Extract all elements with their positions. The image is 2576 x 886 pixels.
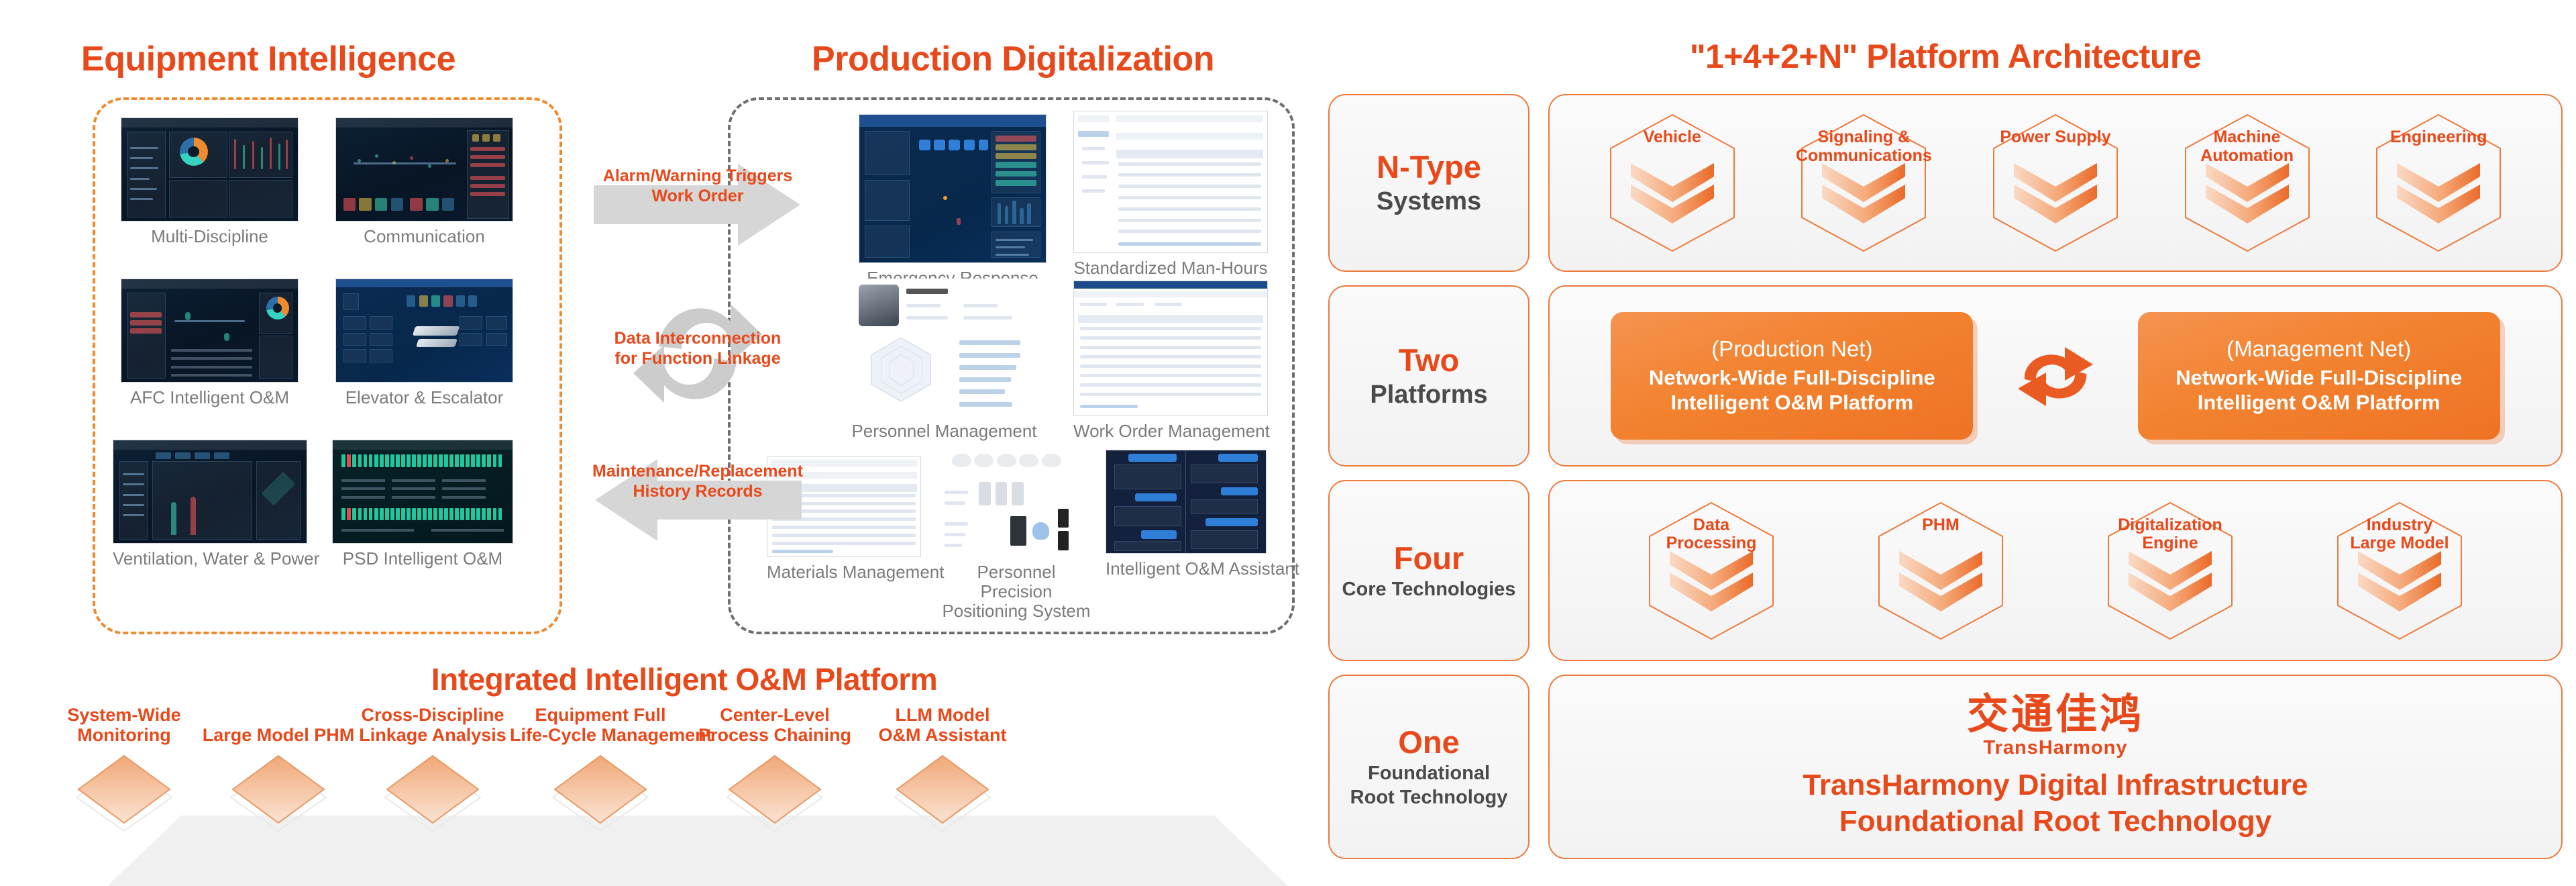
- node-label: Signaling & Communications: [1783, 128, 1944, 165]
- tile-caption: Ventilation, Water & Power: [113, 549, 307, 569]
- platform-item-cross-discipline-linkage[interactable]: Cross-Discipline Linkage Analysis: [356, 705, 510, 853]
- tile-caption: Standardized Man-Hours: [1073, 258, 1268, 278]
- tile-caption: Intelligent O&M Assistant: [1106, 559, 1267, 579]
- infographic-root: Equipment Intelligence Production Digita…: [0, 0, 2576, 886]
- tile-personnel-precision-positioning[interactable]: Personnel Precision Positioning System: [939, 450, 1090, 621]
- node-engineering[interactable]: Engineering: [2371, 111, 2506, 255]
- node-line1: Digitalization: [2090, 516, 2251, 535]
- platform-item-llm-om-assistant[interactable]: LLM Model O&M Assistant: [859, 705, 1026, 853]
- brand-line1: TransHarmony Digital Infrastructure: [1550, 767, 2561, 803]
- node-line2: Processing: [1631, 534, 1792, 553]
- row-label-big: One: [1398, 725, 1459, 760]
- platform-architecture-title: "1+4+2+N" Platform Architecture: [1503, 37, 2388, 76]
- diamond-icon: [724, 749, 825, 850]
- row-body-two-platforms: (Production Net) Network-Wide Full-Disci…: [1548, 285, 2563, 466]
- row-label-big: Two: [1399, 343, 1460, 378]
- diamond-icon: [382, 749, 483, 850]
- platform-card-net-label: (Production Net): [1711, 336, 1872, 362]
- tile-personnel-management[interactable]: Personnel Management: [849, 279, 1040, 441]
- brand-line2: Foundational Root Technology: [1550, 803, 2561, 840]
- row-label-sub-line2: Root Technology: [1350, 787, 1508, 808]
- right-region: "1+4+2+N" Platform Architecture N-Type S…: [1315, 0, 2576, 886]
- integrated-platform-title: Integrated Intelligent O&M Platform: [396, 661, 973, 697]
- row-label-sub: Core Technologies: [1342, 579, 1516, 600]
- row-body-four-core: Data Processing PHM: [1548, 480, 2563, 661]
- platform-card-production-net[interactable]: (Production Net) Network-Wide Full-Disci…: [1611, 312, 1973, 440]
- label-line2: Linkage Analysis: [356, 725, 510, 745]
- arch-row-two-platforms: Two Platforms (Production Net) Network-W…: [1328, 285, 2563, 466]
- screenshot-personnel-management: [849, 279, 1040, 416]
- node-line2: [1592, 147, 1753, 166]
- diamond-icon: [74, 749, 174, 850]
- node-digitalization-engine[interactable]: Digitalization Engine: [2103, 499, 2237, 643]
- arch-row-four-core: Four Core Technologies Data Processing: [1328, 480, 2563, 661]
- platform-item-label: Large Model PHM: [201, 705, 356, 745]
- row-label-sub: Systems: [1377, 187, 1481, 216]
- connector-label-data: Data Interconnection for Function Linkag…: [550, 329, 845, 368]
- platform-item-label: Equipment Full Life-Cycle Management: [510, 705, 691, 745]
- label-line1: Center-Level: [691, 705, 859, 725]
- production-digitalization-title: Production Digitalization: [792, 39, 1234, 79]
- platform-card-line2: Intelligent O&M Platform: [1670, 391, 1913, 415]
- platform-item-label: LLM Model O&M Assistant: [859, 705, 1026, 745]
- node-label: Machine Automation: [2167, 128, 2328, 165]
- platform-item-equipment-lifecycle[interactable]: Equipment Full Life-Cycle Management: [510, 705, 691, 853]
- row-label-big: N-Type: [1377, 150, 1481, 185]
- arch-row-n-type: N-Type Systems Vehicle: [1328, 94, 2563, 272]
- tile-communication[interactable]: Communication: [335, 117, 513, 246]
- node-vehicle[interactable]: Vehicle: [1605, 111, 1739, 255]
- node-line1: Power Supply: [1975, 128, 2136, 147]
- node-line1: Machine: [2167, 128, 2328, 147]
- arch-row-one-foundation: One Foundational Root Technology 交通佳鸿 Tr…: [1328, 675, 2563, 859]
- screenshot-ventilation: [113, 440, 307, 544]
- label-line2: Monitoring: [47, 725, 201, 745]
- label-line2: Life-Cycle Management: [510, 725, 691, 745]
- row-label-big: Four: [1394, 541, 1464, 576]
- node-label: PHM: [1860, 516, 2021, 553]
- node-line1: Signaling &: [1783, 128, 1944, 147]
- node-line2: Engine: [2090, 534, 2251, 553]
- tile-afc-intelligent-om[interactable]: AFC Intelligent O&M: [121, 279, 299, 407]
- label-line2: Large Model PHM: [201, 725, 356, 745]
- screenshot-elevator: [335, 279, 513, 383]
- tile-multi-discipline[interactable]: Multi-Discipline: [121, 117, 299, 246]
- screenshot-afc: [121, 279, 299, 383]
- tile-caption: Personnel Management: [849, 422, 1040, 441]
- label-line1: Cross-Discipline: [356, 705, 510, 725]
- connector-label-maintenance: Maintenance/Replacement History Records: [530, 462, 865, 501]
- node-line2: Automation: [2167, 147, 2328, 166]
- connector-label-alarm: Alarm/Warning Triggers Work Order: [577, 166, 818, 206]
- node-line2: [2358, 147, 2519, 166]
- tile-psd-intelligent-om[interactable]: PSD Intelligent O&M: [332, 440, 513, 569]
- screenshot-om-assistant: [1106, 450, 1267, 554]
- row-label-n-type: N-Type Systems: [1328, 94, 1529, 272]
- platform-card-line2: Intelligent O&M Platform: [2198, 391, 2440, 415]
- brand-block: 交通佳鸿 TransHarmony TransHarmony Digital I…: [1550, 694, 2561, 839]
- node-label: Data Processing: [1631, 516, 1792, 553]
- connector-line1: Data Interconnection: [550, 329, 845, 349]
- node-power-supply[interactable]: Power Supply: [1988, 111, 2123, 255]
- platform-item-label: System-Wide Monitoring: [47, 705, 201, 745]
- platform-item-system-wide-monitoring[interactable]: System-Wide Monitoring: [47, 705, 201, 853]
- node-machine-automation[interactable]: Machine Automation: [2180, 111, 2314, 255]
- node-line2: Large Model: [2319, 534, 2480, 553]
- row-label-two: Two Platforms: [1328, 285, 1529, 466]
- platform-item-label: Center-Level Process Chaining: [691, 705, 859, 745]
- screenshot-work-order: [1073, 281, 1268, 416]
- screenshot-emergency-response: [859, 114, 1046, 263]
- label-line2: Process Chaining: [691, 725, 859, 745]
- label-line1: Equipment Full: [510, 705, 691, 725]
- node-label: Engineering: [2358, 128, 2519, 165]
- platform-item-center-level-process[interactable]: Center-Level Process Chaining: [691, 705, 859, 853]
- screenshot-psd: [332, 440, 513, 544]
- node-phm[interactable]: PHM: [1874, 499, 2008, 643]
- left-region: Equipment Intelligence Production Digita…: [0, 0, 1315, 886]
- screenshot-man-hours: [1073, 111, 1268, 253]
- node-line2: [1860, 534, 2021, 553]
- node-line1: Industry: [2319, 516, 2480, 535]
- screenshot-communication: [335, 117, 513, 222]
- row-body-one-foundation: 交通佳鸿 TransHarmony TransHarmony Digital I…: [1548, 675, 2563, 859]
- tile-caption: PSD Intelligent O&M: [332, 549, 513, 569]
- brand-chinese-name: 交通佳鸿: [1550, 694, 2561, 736]
- diamond-icon: [892, 749, 993, 850]
- tile-standardized-man-hours[interactable]: Standardized Man-Hours: [1073, 111, 1268, 278]
- node-line1: Engineering: [2358, 128, 2519, 147]
- tile-work-order-management[interactable]: Work Order Management: [1073, 281, 1268, 441]
- connector-line1: Maintenance/Replacement: [530, 462, 865, 482]
- connector-line2: for Function Linkage: [550, 349, 845, 369]
- tile-caption: Communication: [335, 227, 513, 246]
- node-line1: PHM: [1860, 516, 2021, 535]
- node-label: Digitalization Engine: [2090, 516, 2251, 553]
- label-line1: LLM Model: [859, 705, 1026, 725]
- diamond-icon: [228, 749, 329, 850]
- screenshot-multi-discipline: [121, 117, 299, 222]
- tile-ventilation-water-power[interactable]: Ventilation, Water & Power: [113, 440, 307, 569]
- screenshot-positioning: [939, 450, 1090, 557]
- tile-caption: Multi-Discipline: [121, 227, 299, 246]
- node-line1: Data: [1631, 516, 1792, 535]
- platform-card-line1: Network-Wide Full-Discipline: [1649, 366, 1935, 391]
- tile-emergency-response[interactable]: Emergency Response: [859, 114, 1046, 288]
- platform-item-large-model-phm[interactable]: Large Model PHM: [201, 705, 356, 853]
- exchange-arrows-icon: [2015, 339, 2096, 413]
- connector-line2: Work Order: [577, 187, 818, 207]
- node-label: Vehicle: [1592, 128, 1753, 165]
- node-industry-large-model[interactable]: Industry Large Model: [2332, 499, 2467, 643]
- label-line2: O&M Assistant: [859, 725, 1026, 745]
- node-line1: Vehicle: [1592, 128, 1753, 147]
- label-line1: System-Wide: [47, 705, 201, 725]
- tile-elevator-escalator[interactable]: Elevator & Escalator: [335, 279, 513, 407]
- node-line2: Communications: [1783, 147, 1944, 166]
- diamond-icon: [550, 749, 651, 850]
- row-label-four: Four Core Technologies: [1328, 480, 1529, 661]
- tile-caption: Personnel Precision Positioning System: [939, 562, 1093, 621]
- tile-caption: Work Order Management: [1073, 422, 1268, 441]
- tile-caption: AFC Intelligent O&M: [121, 388, 299, 407]
- node-label: Industry Large Model: [2319, 516, 2480, 553]
- row-label-sub-line1: Foundational: [1368, 762, 1490, 784]
- platform-card-management-net[interactable]: (Management Net) Network-Wide Full-Disci…: [2138, 312, 2500, 440]
- platform-card-line1: Network-Wide Full-Discipline: [2176, 366, 2462, 391]
- node-data-processing[interactable]: Data Processing: [1644, 499, 1778, 643]
- node-signaling-communications[interactable]: Signaling & Communications: [1796, 111, 1931, 255]
- equipment-intelligence-title: Equipment Intelligence: [80, 39, 456, 79]
- platform-item-label: Cross-Discipline Linkage Analysis: [356, 705, 510, 745]
- row-body-n-type: Vehicle Signaling & Communications: [1548, 94, 2563, 272]
- connector-line2: History Records: [530, 482, 865, 502]
- connector-line1: Alarm/Warning Triggers: [577, 166, 818, 187]
- label-line1: [201, 705, 356, 725]
- brand-english-name: TransHarmony: [1550, 737, 2561, 759]
- sync-arrows-wrapper: [2015, 339, 2096, 413]
- tile-caption: Materials Management: [767, 562, 921, 582]
- tile-caption: Elevator & Escalator: [335, 388, 513, 407]
- row-label-sub: Platforms: [1370, 381, 1487, 409]
- platform-card-net-label: (Management Net): [2226, 336, 2411, 362]
- row-label-one: One Foundational Root Technology: [1328, 675, 1529, 859]
- tile-intelligent-om-assistant[interactable]: Intelligent O&M Assistant: [1106, 450, 1267, 579]
- node-label: Power Supply: [1975, 128, 2136, 165]
- node-line2: [1975, 147, 2136, 166]
